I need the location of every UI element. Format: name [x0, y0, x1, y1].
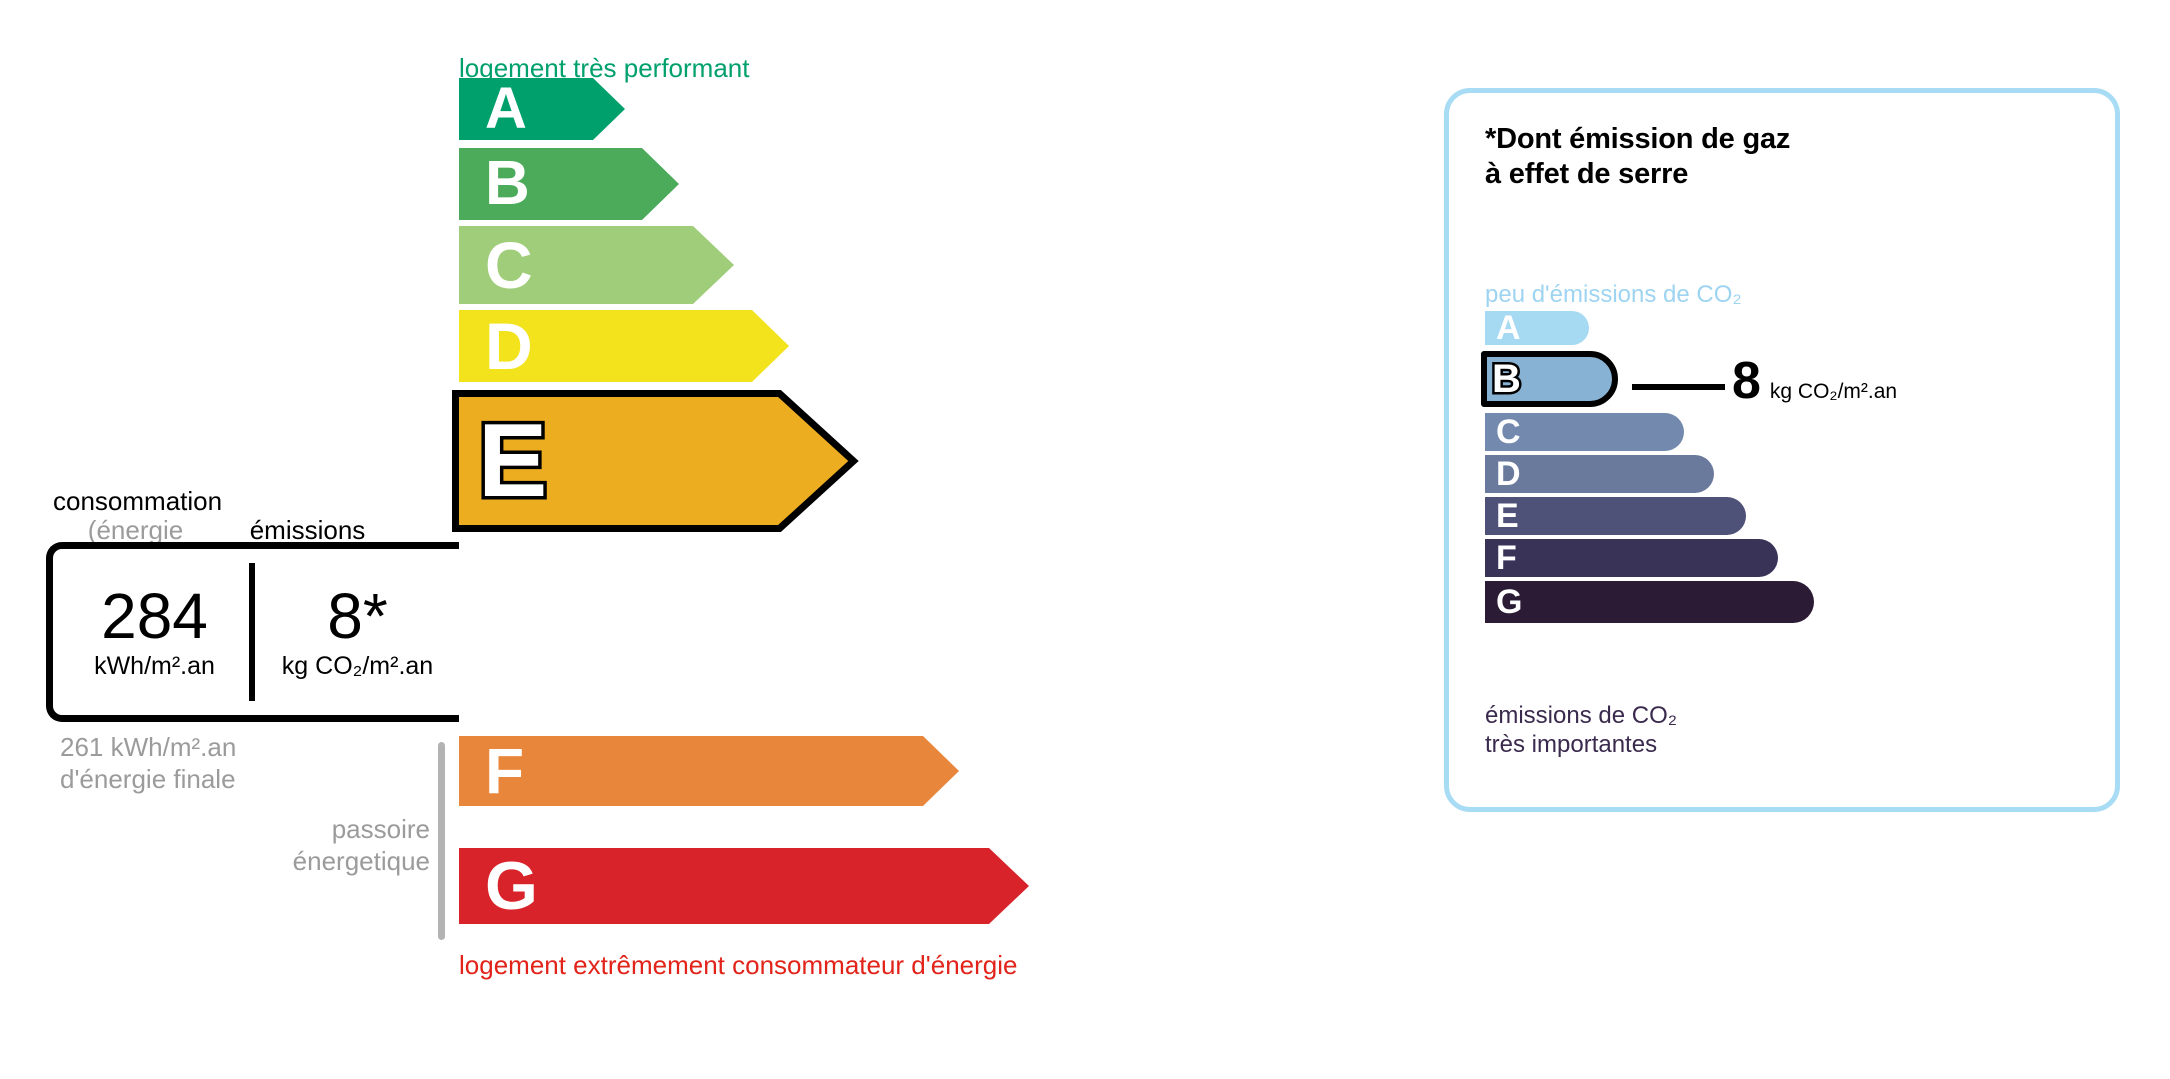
- energy-band-shape-e: E: [452, 390, 857, 532]
- energy-band-shape-d: D: [459, 310, 789, 382]
- co2-bottom-caption: émissions de CO₂ très importantes: [1485, 701, 1677, 760]
- energy-band-letter-f: F: [485, 739, 524, 803]
- emissions-label: émissions: [220, 516, 395, 545]
- co2-emissions-panel: *Dont émission de gaz à effet de serre p…: [1444, 88, 2120, 812]
- co2-band-a[interactable]: A: [1485, 311, 1589, 345]
- co2-value-unit: kg CO₂/m².an: [1770, 381, 1897, 402]
- energy-band-e[interactable]: E: [452, 390, 857, 532]
- energy-band-letter-e: E: [478, 409, 547, 513]
- co2-band-shape-c: C: [1485, 413, 1684, 451]
- energy-band-letter-c: C: [485, 232, 533, 298]
- emissions-value: 8*: [327, 584, 388, 648]
- co2-band-f[interactable]: F: [1485, 539, 1778, 577]
- energy-band-d[interactable]: D: [459, 310, 789, 382]
- final-energy-note: 261 kWh/m².an d'énergie finale: [60, 732, 236, 796]
- co2-band-shape-e: E: [1485, 497, 1746, 535]
- co2-band-c[interactable]: C: [1485, 413, 1684, 451]
- co2-band-shape-a: A: [1485, 311, 1589, 345]
- energy-band-c[interactable]: C: [459, 226, 734, 304]
- energy-band-shape-b: B: [459, 148, 679, 220]
- energy-band-shape-g: G: [459, 848, 1029, 924]
- co2-value-number: 8: [1732, 355, 1761, 407]
- energy-band-a[interactable]: A: [459, 78, 625, 140]
- co2-band-b[interactable]: B: [1481, 351, 1618, 407]
- co2-band-letter-c: C: [1496, 415, 1521, 449]
- value-box-divider: [249, 563, 255, 701]
- co2-top-caption: peu d'émissions de CO₂: [1485, 283, 1742, 307]
- co2-band-letter-a: A: [1496, 311, 1521, 345]
- co2-band-letter-f: F: [1496, 541, 1517, 575]
- co2-leader-line: [1632, 384, 1725, 390]
- passoire-indicator-rule: [438, 742, 445, 940]
- energy-bottom-caption: logement extrêmement consommateur d'éner…: [459, 952, 1017, 978]
- emissions-unit: kg CO₂/m².an: [282, 652, 433, 681]
- co2-band-d[interactable]: D: [1485, 455, 1714, 493]
- energy-band-f[interactable]: F: [459, 736, 959, 806]
- value-readout-box: 284 kWh/m².an 8* kg CO₂/m².an: [46, 542, 459, 722]
- energy-band-letter-b: B: [485, 153, 530, 215]
- co2-band-letter-g: G: [1496, 585, 1522, 619]
- co2-band-shape-d: D: [1485, 455, 1714, 493]
- co2-panel-title: *Dont émission de gaz à effet de serre: [1485, 122, 1790, 192]
- co2-value-readout: 8 kg CO₂/m².an: [1732, 355, 1897, 407]
- energy-band-shape-a: A: [459, 78, 625, 140]
- energy-band-g[interactable]: G: [459, 848, 1029, 924]
- consumption-value: 284: [101, 584, 208, 648]
- energy-band-shape-f: F: [459, 736, 959, 806]
- co2-band-shape-f: F: [1485, 539, 1778, 577]
- co2-band-letter-e: E: [1496, 499, 1519, 533]
- dpe-diagram: logement très performant ABCDEFG logemen…: [0, 0, 2170, 1079]
- passoire-energetique-label: passoire énergetique: [245, 814, 430, 878]
- co2-band-letter-d: D: [1496, 457, 1521, 491]
- energy-band-shape-c: C: [459, 226, 734, 304]
- energy-performance-panel: logement très performant ABCDEFG logemen…: [0, 0, 1330, 1079]
- energy-band-letter-g: G: [485, 852, 538, 920]
- co2-band-letter-b: B: [1492, 359, 1521, 399]
- co2-band-e[interactable]: E: [1485, 497, 1746, 535]
- emissions-value-column: 8* kg CO₂/m².an: [256, 549, 459, 715]
- co2-band-shape-b: B: [1481, 351, 1618, 407]
- energy-band-letter-a: A: [485, 80, 527, 138]
- energy-band-letter-d: D: [485, 313, 533, 379]
- consumption-label-main: consommation: [53, 486, 222, 516]
- consumption-unit: kWh/m².an: [94, 652, 215, 681]
- consumption-value-column: 284 kWh/m².an: [53, 549, 256, 715]
- co2-band-shape-g: G: [1485, 581, 1814, 623]
- energy-band-b[interactable]: B: [459, 148, 679, 220]
- co2-band-g[interactable]: G: [1485, 581, 1814, 623]
